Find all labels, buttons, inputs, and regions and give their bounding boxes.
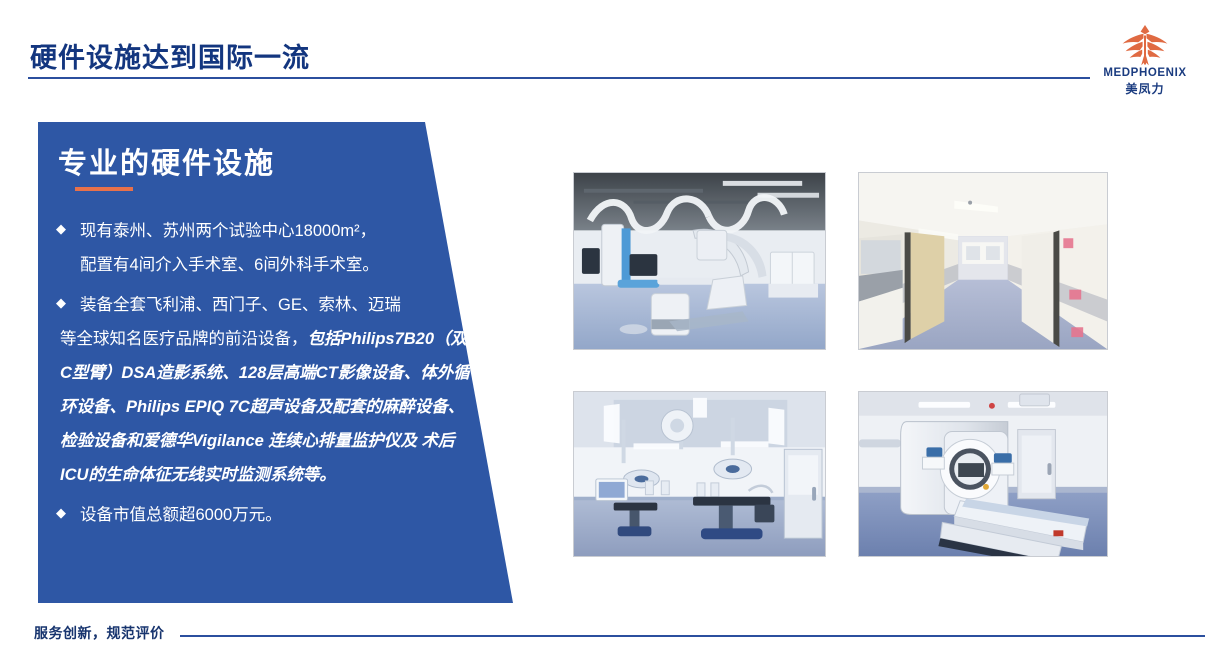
slide-footer: 服务创新，规范评价 <box>0 610 1205 654</box>
footer-slogan: 服务创新，规范评价 <box>34 623 165 643</box>
brand-logo: MEDPHOENIX 美凤力 <box>1095 24 1195 97</box>
brand-name-cn: 美凤力 <box>1095 80 1195 97</box>
list-item: ◆ 设备市值总额超6000万元。 <box>38 498 478 532</box>
bullet-diamond-icon: ◆ <box>56 216 66 242</box>
page-title: 硬件设施达到国际一流 <box>30 36 310 75</box>
panel-heading: 专业的硬件设施 <box>58 140 275 182</box>
bullet-line: 装备全套飞利浦、西门子、GE、索林、迈瑞 <box>38 288 478 322</box>
bullet-text-italic: 包括Philips7B20（双C型臂）DSA造影系统、128层高端CT影像设备、… <box>60 330 470 484</box>
bullet-line: 设备市值总额超6000万元。 <box>38 498 478 532</box>
bullet-line-mixed: 等全球知名医疗品牌的前沿设备，包括Philips7B20（双C型臂）DSA造影系… <box>38 322 478 492</box>
bullet-diamond-icon: ◆ <box>56 500 66 526</box>
bullet-line: 现有泰州、苏州两个试验中心18000m²， <box>38 214 478 248</box>
bullet-text-normal: 等全球知名医疗品牌的前沿设备， <box>60 330 308 348</box>
list-item: ◆ 装备全套飞利浦、西门子、GE、索林、迈瑞 等全球知名医疗品牌的前沿设备，包括… <box>38 288 478 492</box>
photo-operating-room <box>573 391 826 557</box>
bullet-diamond-icon: ◆ <box>56 290 66 316</box>
bullet-line: 配置有4间介入手术室、6间外科手术室。 <box>38 248 478 282</box>
bullet-list: ◆ 现有泰州、苏州两个试验中心18000m²， 配置有4间介入手术室、6间外科手… <box>38 214 478 538</box>
header-divider <box>28 77 1090 79</box>
slide-header: 硬件设施达到国际一流 <box>0 0 1205 110</box>
photo-corridor <box>858 172 1108 350</box>
panel-accent-bar <box>75 187 133 191</box>
brand-name-en: MEDPHOENIX <box>1095 67 1195 79</box>
photo-ct-scanner <box>858 391 1108 557</box>
info-panel: 专业的硬件设施 ◆ 现有泰州、苏州两个试验中心18000m²， 配置有4间介入手… <box>38 122 513 603</box>
photo-dsa-lab <box>573 172 826 350</box>
footer-divider <box>180 635 1205 637</box>
phoenix-icon <box>1114 24 1176 66</box>
photo-grid <box>573 172 1108 557</box>
list-item: ◆ 现有泰州、苏州两个试验中心18000m²， 配置有4间介入手术室、6间外科手… <box>38 214 478 282</box>
